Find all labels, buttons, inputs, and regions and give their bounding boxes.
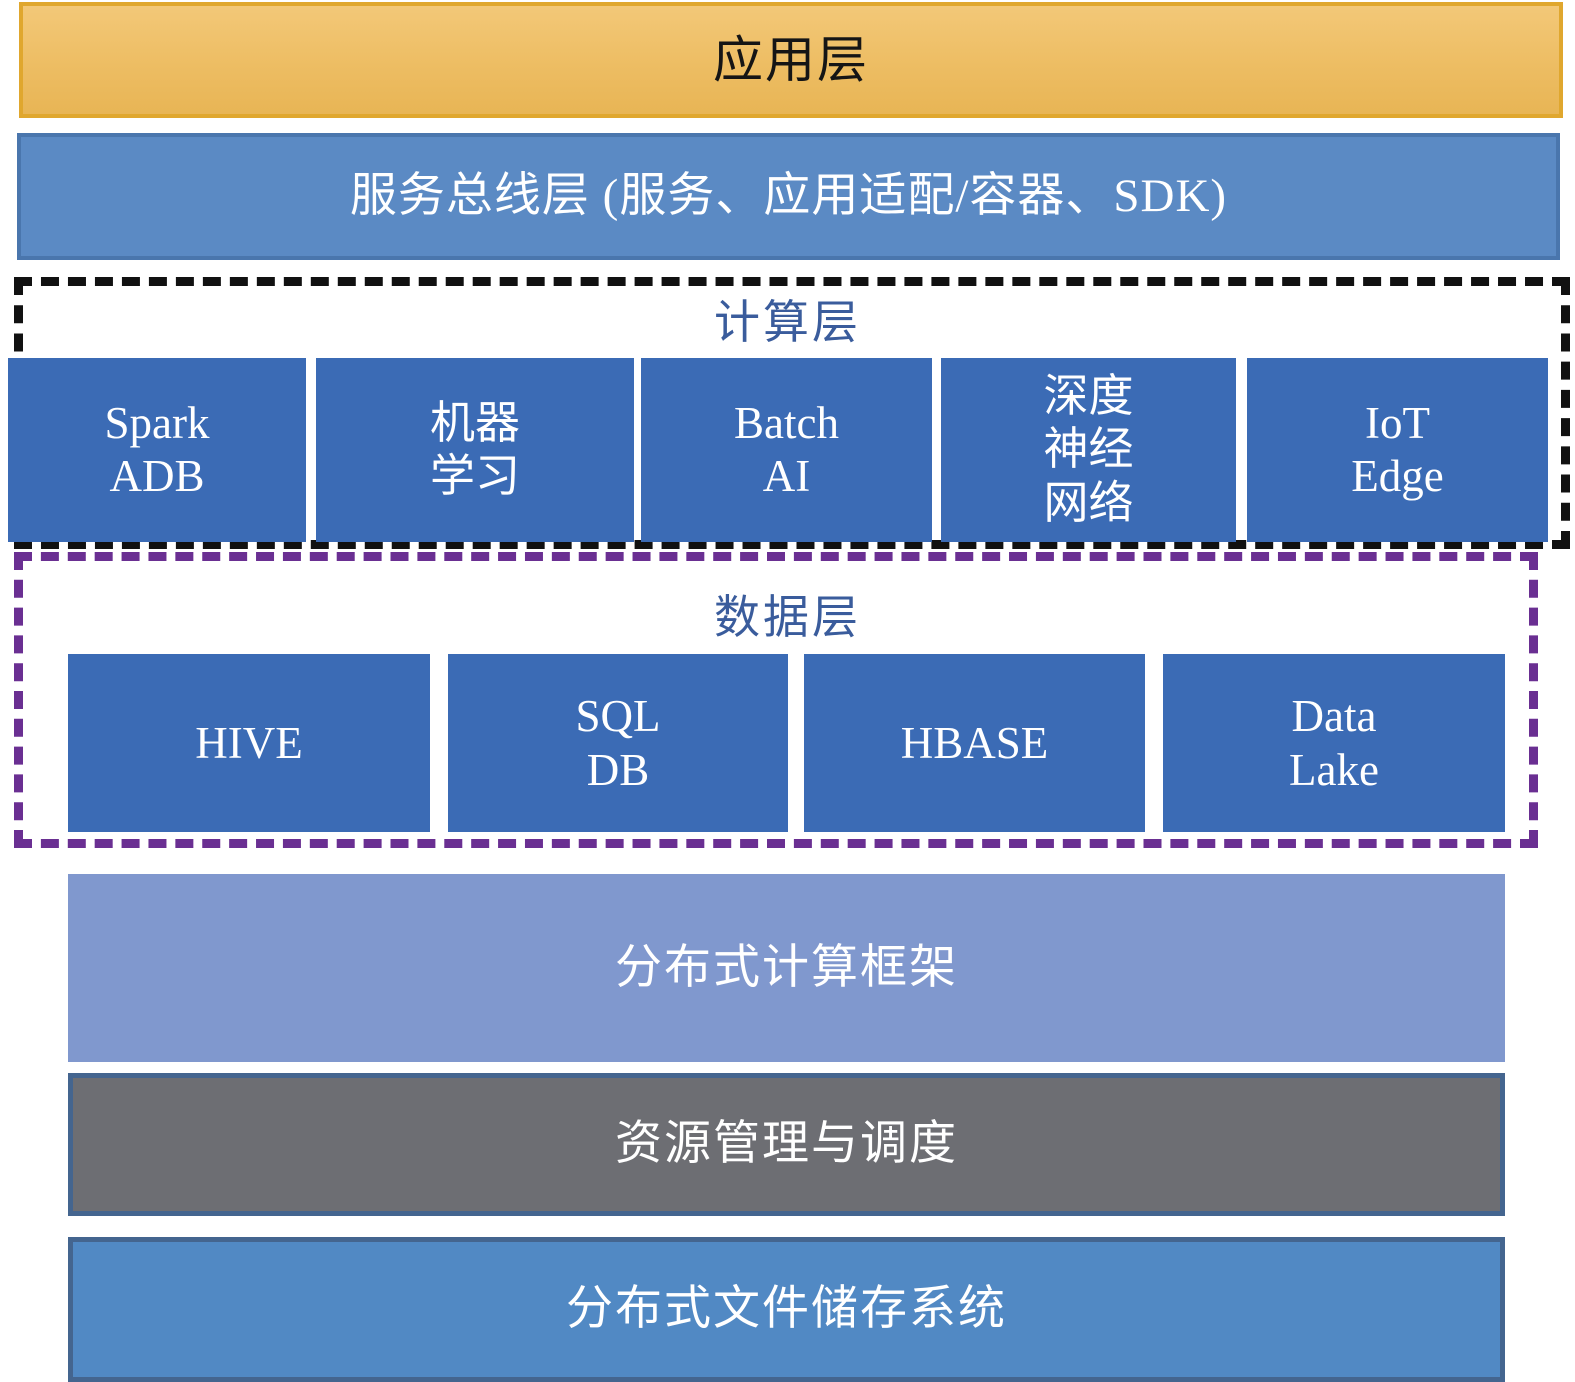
application-layer-bar[interactable]: 应用层: [19, 2, 1563, 118]
data-item-label: SQL DB: [575, 689, 660, 797]
data-item-label: Data Lake: [1289, 689, 1379, 797]
compute-layer-title: 计算层: [0, 286, 1575, 352]
service-bus-layer-label: 服务总线层 (服务、应用适配/容器、SDK): [350, 170, 1227, 223]
architecture-diagram: 应用层 服务总线层 (服务、应用适配/容器、SDK) 计算层 Spark ADB…: [0, 0, 1575, 1378]
compute-item-label: 机器 学习: [430, 397, 520, 503]
compute-item-machine-learning[interactable]: 机器 学习: [316, 358, 634, 542]
data-item-sql-db[interactable]: SQL DB: [448, 654, 788, 832]
data-item-data-lake[interactable]: Data Lake: [1163, 654, 1505, 832]
compute-item-spark-adb[interactable]: Spark ADB: [8, 358, 306, 542]
data-layer-title: 数据层: [0, 581, 1575, 647]
compute-item-batch-ai[interactable]: Batch AI: [641, 358, 932, 542]
compute-item-iot-edge[interactable]: IoT Edge: [1247, 358, 1548, 542]
data-item-hive[interactable]: HIVE: [68, 654, 430, 832]
storage-layer-bar[interactable]: 分布式文件储存系统: [68, 1237, 1505, 1382]
framework-layer-bar[interactable]: 分布式计算框架: [68, 874, 1505, 1062]
resource-management-layer-bar[interactable]: 资源管理与调度: [68, 1073, 1505, 1216]
service-bus-layer-bar[interactable]: 服务总线层 (服务、应用适配/容器、SDK): [17, 133, 1560, 260]
resource-management-layer-label: 资源管理与调度: [615, 1118, 958, 1171]
data-item-label: HBASE: [901, 716, 1049, 770]
data-item-label: HIVE: [195, 716, 302, 770]
compute-item-label: Batch AI: [734, 397, 839, 503]
data-item-hbase[interactable]: HBASE: [804, 654, 1145, 832]
compute-item-deep-neural-network[interactable]: 深度 神经 网络: [941, 358, 1236, 542]
application-layer-label: 应用层: [713, 32, 869, 88]
compute-item-label: 深度 神经 网络: [1043, 370, 1133, 529]
compute-item-label: IoT Edge: [1351, 397, 1443, 503]
storage-layer-label: 分布式文件储存系统: [566, 1283, 1007, 1336]
framework-layer-label: 分布式计算框架: [615, 942, 958, 995]
compute-item-label: Spark ADB: [105, 397, 210, 503]
